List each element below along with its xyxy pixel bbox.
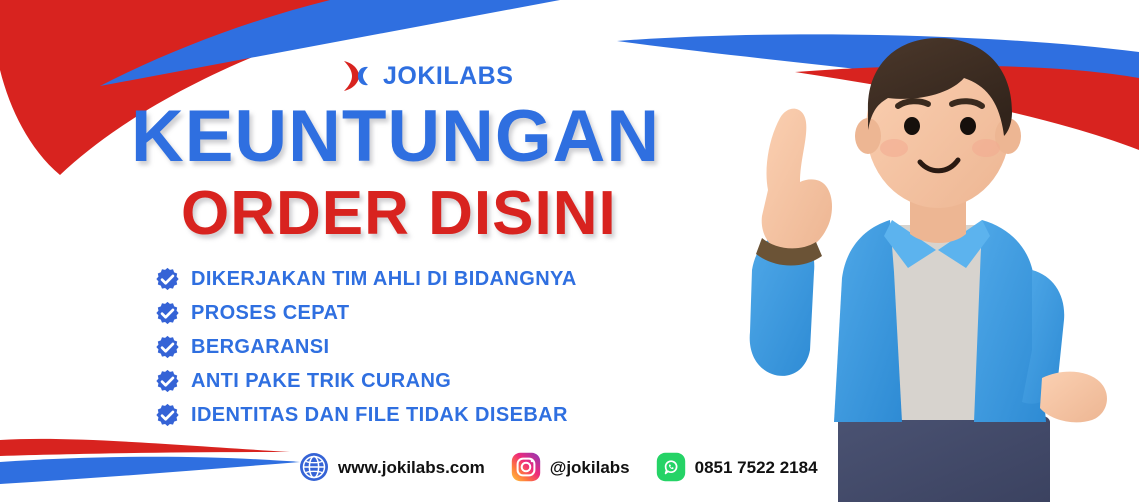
feature-item: BERGARANSI — [155, 334, 577, 360]
feature-label: DIKERJAKAN TIM AHLI DI BIDANGNYA — [191, 269, 577, 289]
character-eye-left — [904, 117, 920, 135]
swoosh-bottom-left-red — [0, 439, 290, 456]
character-eye-right — [960, 117, 976, 135]
brand-logo[interactable]: JOKILABS — [336, 57, 513, 95]
feature-item: PROSES CEPAT — [155, 300, 577, 326]
feature-label: ANTI PAKE TRIK CURANG — [191, 371, 451, 391]
check-badge-icon — [155, 267, 180, 292]
instagram-icon — [511, 452, 541, 482]
character-jacket-left — [834, 220, 902, 422]
feature-label: BERGARANSI — [191, 337, 329, 357]
check-badge-icon — [155, 403, 180, 428]
character-pants — [838, 410, 1050, 502]
character-cheek-right — [972, 139, 1000, 157]
contact-label: @jokilabs — [550, 459, 630, 476]
feature-item: DIKERJAKAN TIM AHLI DI BIDANGNYA — [155, 266, 577, 292]
feature-label: PROSES CEPAT — [191, 303, 350, 323]
character-artwork — [742, 20, 1139, 502]
feature-list: DIKERJAKAN TIM AHLI DI BIDANGNYA PROSES … — [155, 266, 577, 428]
headline-primary: KEUNTUNGAN — [131, 100, 660, 173]
contact-instagram[interactable]: @jokilabs — [511, 452, 630, 482]
pointing-man-3d-illustration — [742, 20, 1139, 502]
whatsapp-icon — [656, 452, 686, 482]
check-badge-icon — [155, 301, 180, 326]
check-badge-icon — [155, 335, 180, 360]
brand-logo-text: JOKILABS — [383, 64, 513, 89]
jokilabs-logo-icon — [336, 57, 374, 95]
character-cheek-left — [880, 139, 908, 157]
contact-website[interactable]: www.jokilabs.com — [299, 452, 485, 482]
promo-banner: JOKILABS KEUNTUNGAN ORDER DISINI DIKERJA… — [0, 0, 1139, 502]
character-right-hand — [1040, 372, 1107, 423]
check-badge-icon — [155, 369, 180, 394]
contact-label: www.jokilabs.com — [338, 459, 485, 476]
globe-icon — [299, 452, 329, 482]
headline-secondary: ORDER DISINI — [181, 183, 617, 245]
feature-item: ANTI PAKE TRIK CURANG — [155, 368, 577, 394]
feature-label: IDENTITAS DAN FILE TIDAK DISEBAR — [191, 405, 568, 425]
swoosh-bottom-left-blue — [0, 457, 300, 484]
feature-item: IDENTITAS DAN FILE TIDAK DISEBAR — [155, 402, 577, 428]
character-pointing-hand — [762, 109, 832, 253]
